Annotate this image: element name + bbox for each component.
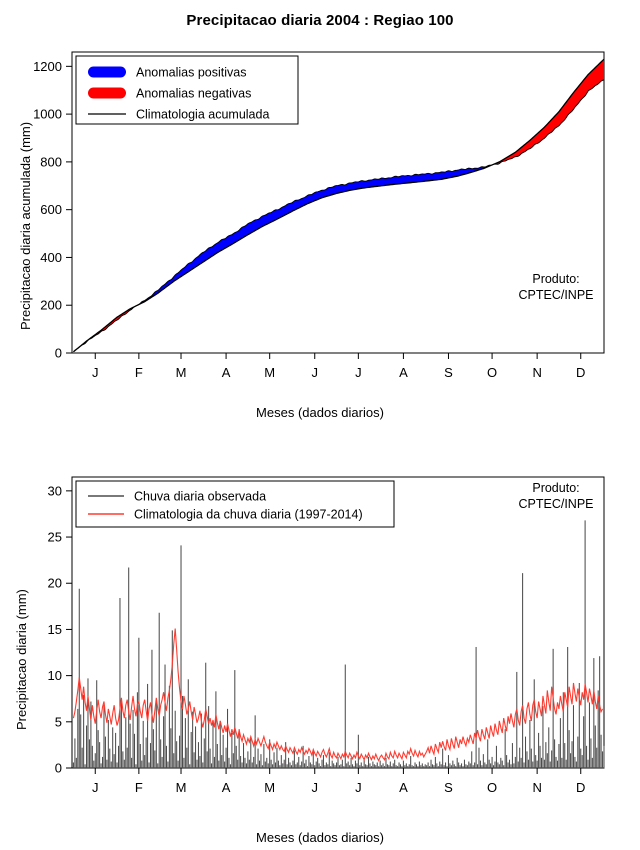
accumulated-precipitation-panel: Precipitacao diaria 2004 : Regiao 100 02… xyxy=(0,0,640,430)
bottom-y-tick-label: 15 xyxy=(48,622,62,637)
bottom-x-tick-label: D xyxy=(576,780,585,795)
bottom-x-tick-label: O xyxy=(487,780,497,795)
observed-rain-bars xyxy=(73,520,604,768)
bottom-x-tick-label: M xyxy=(264,780,275,795)
bottom-x-tick-label: F xyxy=(135,780,143,795)
bottom-x-tick-label: A xyxy=(399,780,408,795)
bottom-produto-line2: CPTEC/INPE xyxy=(518,497,593,511)
bottom-x-tick-label: J xyxy=(355,780,362,795)
top-x-tick-label: N xyxy=(532,365,541,380)
top-y-tick-label: 200 xyxy=(40,298,62,313)
top-x-axis-label: Meses (dados diarios) xyxy=(0,405,640,420)
bottom-y-tick-label: 20 xyxy=(48,576,62,591)
top-x-tick-label: M xyxy=(176,365,187,380)
bottom-x-tick-label: J xyxy=(311,780,318,795)
accumulated-precipitation-chart: 020040060080010001200JFMAMJJASONDAnomali… xyxy=(0,0,640,430)
top-y-axis-label: Precipitacao diaria acumulada (mm) xyxy=(18,122,33,330)
top-y-tick-label: 400 xyxy=(40,250,62,265)
top-y-tick-label: 600 xyxy=(40,202,62,217)
daily-precipitation-panel: 051015202530JFMAMJJASONDChuva diaria obs… xyxy=(0,430,640,850)
red-bar-swatch-icon xyxy=(88,88,126,99)
top-x-tick-label: S xyxy=(444,365,453,380)
top-x-tick-label: F xyxy=(135,365,143,380)
top-x-tick-label: J xyxy=(311,365,318,380)
bottom-y-tick-label: 10 xyxy=(48,668,62,683)
top-produto-line1: Produto: xyxy=(532,272,579,286)
top-x-tick-label: A xyxy=(399,365,408,380)
top-x-tick-label: J xyxy=(355,365,362,380)
bottom-x-tick-label: A xyxy=(222,780,231,795)
bottom-x-tick-label: N xyxy=(532,780,541,795)
bottom-produto-annotation: Produto:CPTEC/INPE xyxy=(518,481,593,511)
top-x-tick-label: D xyxy=(576,365,585,380)
top-y-tick-label: 1000 xyxy=(33,107,62,122)
bottom-y-tick-label: 25 xyxy=(48,530,62,545)
bottom-y-axis-label: Precipitacao diaria (mm) xyxy=(14,589,29,730)
bottom-y-tick-label: 0 xyxy=(55,761,62,776)
top-x-tick-label: M xyxy=(264,365,275,380)
bottom-x-tick-label: J xyxy=(92,780,99,795)
bottom-x-axis-label: Meses (dados diarios) xyxy=(0,830,640,845)
bottom-legend: Chuva diaria observadaClimatologia da ch… xyxy=(76,481,394,527)
bottom-x-tick-label: S xyxy=(444,780,453,795)
top-legend: Anomalias positivasAnomalias negativasCl… xyxy=(76,56,298,124)
daily-precipitation-chart: 051015202530JFMAMJJASONDChuva diaria obs… xyxy=(0,430,640,850)
top-y-tick-label: 1200 xyxy=(33,59,62,74)
bottom-legend-item-label: Climatologia da chuva diaria (1997-2014) xyxy=(134,508,363,522)
top-x-tick-label: O xyxy=(487,365,497,380)
bottom-x-tick-label: M xyxy=(176,780,187,795)
top-legend-item-label: Climatologia acumulada xyxy=(136,108,269,122)
top-legend-item-label: Anomalias positivas xyxy=(136,66,246,80)
top-x-tick-label: J xyxy=(92,365,99,380)
top-x-tick-label: A xyxy=(222,365,231,380)
top-y-tick-label: 0 xyxy=(55,346,62,361)
top-produto-line2: CPTEC/INPE xyxy=(518,288,593,302)
blue-bar-swatch-icon xyxy=(88,67,126,78)
top-produto-annotation: Produto:CPTEC/INPE xyxy=(518,272,593,302)
bottom-y-tick-label: 5 xyxy=(55,714,62,729)
bottom-produto-line1: Produto: xyxy=(532,481,579,495)
top-legend-item-label: Anomalias negativas xyxy=(136,87,251,101)
positive-anomaly-area xyxy=(139,165,491,304)
daily-climatology-line xyxy=(73,629,602,761)
top-y-tick-label: 800 xyxy=(40,154,62,169)
bottom-legend-item-label: Chuva diaria observada xyxy=(134,490,266,504)
bottom-y-tick-label: 30 xyxy=(48,483,62,498)
